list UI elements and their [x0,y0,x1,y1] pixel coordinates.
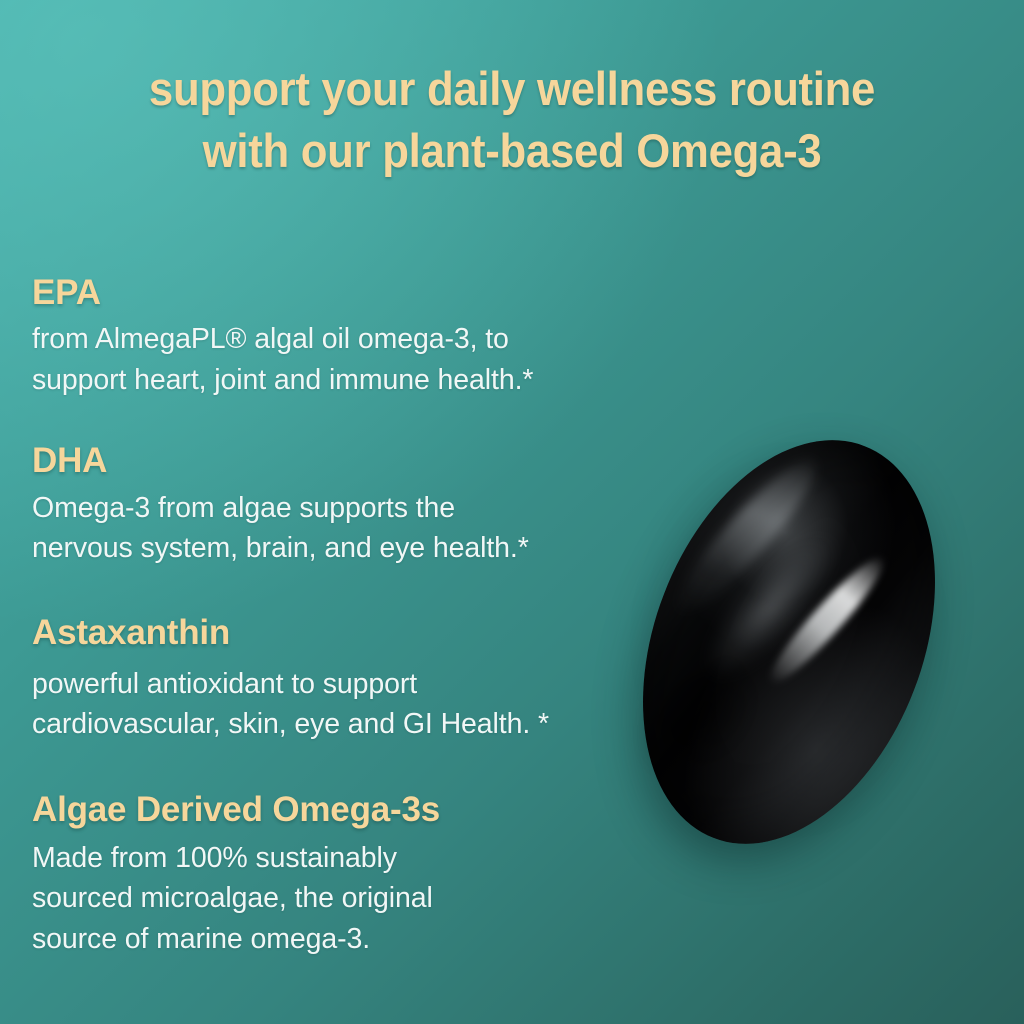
page-headline: support your daily wellness routine with… [36,58,988,182]
benefit-body-astaxanthin: powerful antioxidant to support cardiova… [32,664,652,745]
benefit-title-astaxanthin: Astaxanthin [32,612,652,653]
benefit-title-dha: DHA [32,440,652,481]
benefit-title-algae-omega3s: Algae Derived Omega-3s [32,789,652,830]
benefit-item-dha: DHA Omega-3 from algae supports the nerv… [32,440,652,568]
softgel-capsule-image [655,432,923,852]
promo-poster: support your daily wellness routine with… [0,0,1024,1024]
benefit-body-dha: Omega-3 from algae supports the nervous … [32,488,652,569]
benefit-item-astaxanthin: Astaxanthin powerful antioxidant to supp… [32,612,652,744]
benefit-item-epa: EPA from AlmegaPL® algal oil omega-3, to… [32,272,652,400]
benefit-body-algae-omega3s: Made from 100% sustainably sourced micro… [32,838,652,959]
benefits-list: EPA from AlmegaPL® algal oil omega-3, to… [32,272,652,959]
benefit-item-algae-omega3s: Algae Derived Omega-3s Made from 100% su… [32,789,652,960]
benefit-title-epa: EPA [32,272,652,313]
benefit-body-epa: from AlmegaPL® algal oil omega-3, to sup… [32,319,652,400]
